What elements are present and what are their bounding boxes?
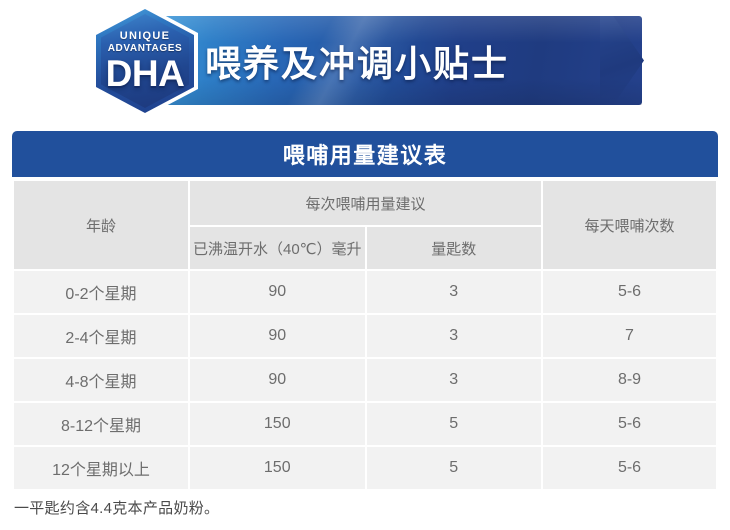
cell-age: 0-2个星期 [14,271,188,313]
cell-daily: 8-9 [543,359,716,401]
dha-badge: UNIQUE ADVANTAGES DHA [92,5,198,117]
header-age: 年龄 [14,181,188,269]
table-row: 4-8个星期 90 3 8-9 [14,359,716,401]
header-per-feed-group: 每次喂哺用量建议 [190,181,541,225]
header-daily-feeds: 每天喂哺次数 [543,181,716,269]
cell-age: 12个星期以上 [14,447,188,489]
cell-scoops: 3 [367,271,542,313]
feeding-guide-table: 年龄 每次喂哺用量建议 每天喂哺次数 已沸温开水（40℃）毫升 量匙数 0-2个… [12,179,718,491]
cell-water: 90 [190,315,365,357]
cell-daily: 7 [543,315,716,357]
cell-scoops: 5 [367,403,542,445]
table-row: 8-12个星期 150 5 5-6 [14,403,716,445]
table-row: 12个星期以上 150 5 5-6 [14,447,716,489]
cell-water: 90 [190,271,365,313]
cell-daily: 5-6 [543,447,716,489]
dha-badge-text: UNIQUE ADVANTAGES DHA [92,5,198,117]
cell-daily: 5-6 [543,271,716,313]
header-scoops: 量匙数 [367,227,542,269]
table-header-row-top: 年龄 每次喂哺用量建议 每天喂哺次数 [14,181,716,225]
table-head: 年龄 每次喂哺用量建议 每天喂哺次数 已沸温开水（40℃）毫升 量匙数 [14,181,716,269]
cell-scoops: 3 [367,315,542,357]
cell-age: 2-4个星期 [14,315,188,357]
dha-badge-acronym: DHA [106,56,185,92]
dha-badge-line1: UNIQUE [120,30,171,42]
table-title: 喂哺用量建议表 [12,131,718,177]
cell-age: 8-12个星期 [14,403,188,445]
table-body: 0-2个星期 90 3 5-6 2-4个星期 90 3 7 4-8个星期 90 … [14,271,716,489]
cell-scoops: 3 [367,359,542,401]
header-water-ml: 已沸温开水（40℃）毫升 [190,227,365,269]
feeding-table-card: 喂哺用量建议表 年龄 每次喂哺用量建议 每天喂哺次数 已沸温开水（40℃）毫升 … [12,131,718,491]
cell-daily: 5-6 [543,403,716,445]
cell-water: 150 [190,403,365,445]
banner-title: 喂养及冲调小贴士 [205,16,509,105]
footnote: 一平匙约含4.4克本产品奶粉。 [14,497,219,518]
header-banner: 喂养及冲调小贴士 UNIQUE ADVANTAGES DHA [0,0,730,118]
table-row: 2-4个星期 90 3 7 [14,315,716,357]
cell-scoops: 5 [367,447,542,489]
cell-water: 90 [190,359,365,401]
cell-water: 150 [190,447,365,489]
table-row: 0-2个星期 90 3 5-6 [14,271,716,313]
cell-age: 4-8个星期 [14,359,188,401]
